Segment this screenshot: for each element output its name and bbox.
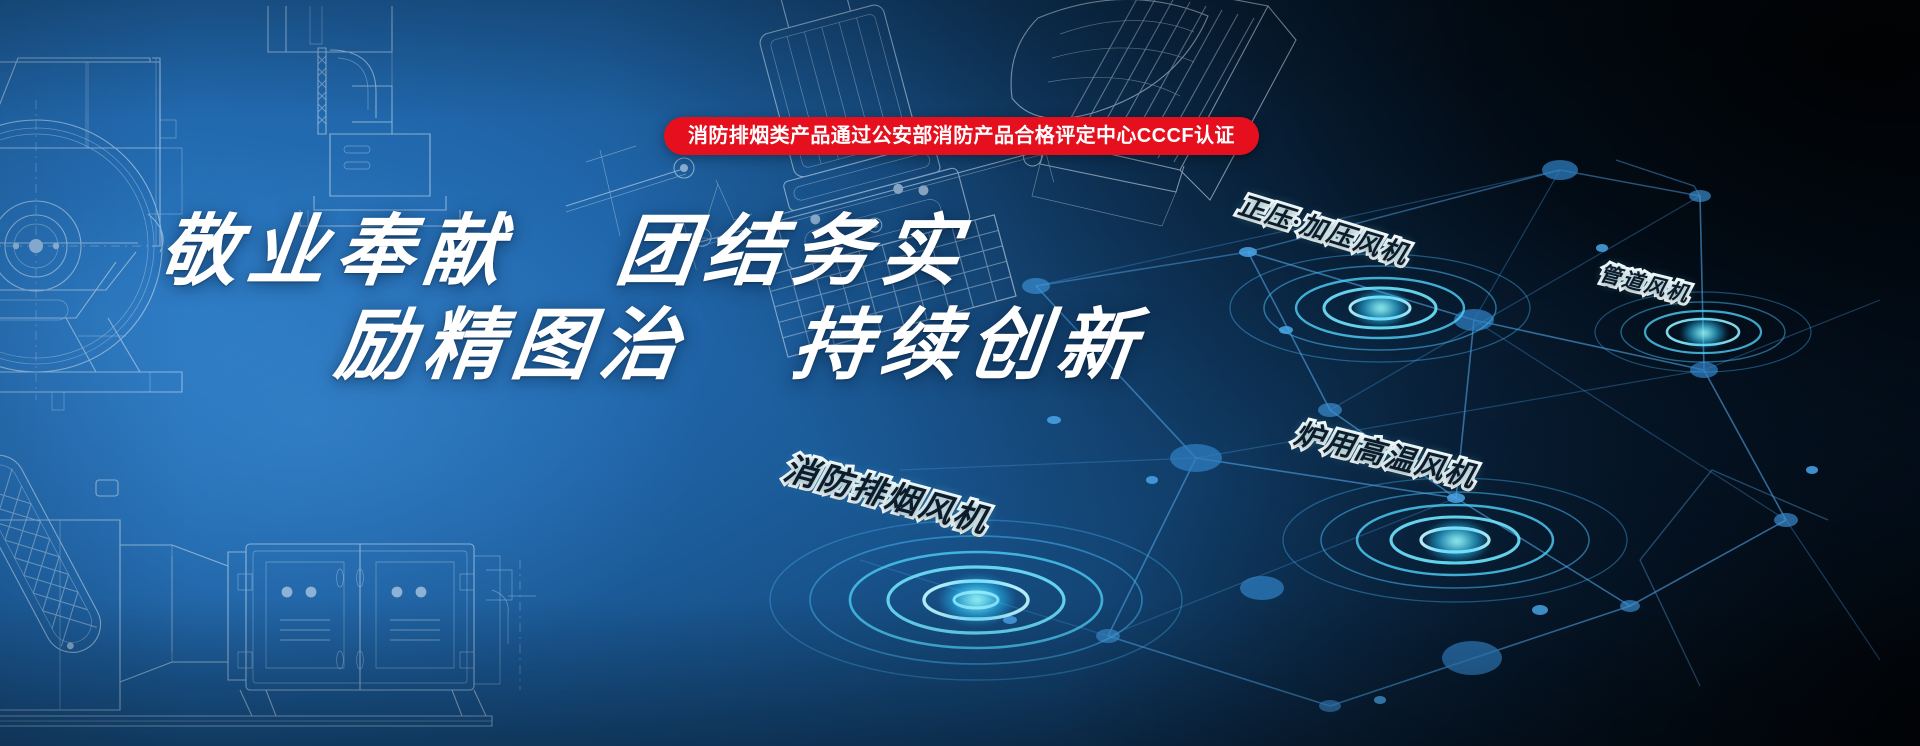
hero-banner: 正压·加压风机 管道风机 炉用高温风机 <box>0 0 1920 746</box>
vignette-overlay <box>0 0 1920 746</box>
